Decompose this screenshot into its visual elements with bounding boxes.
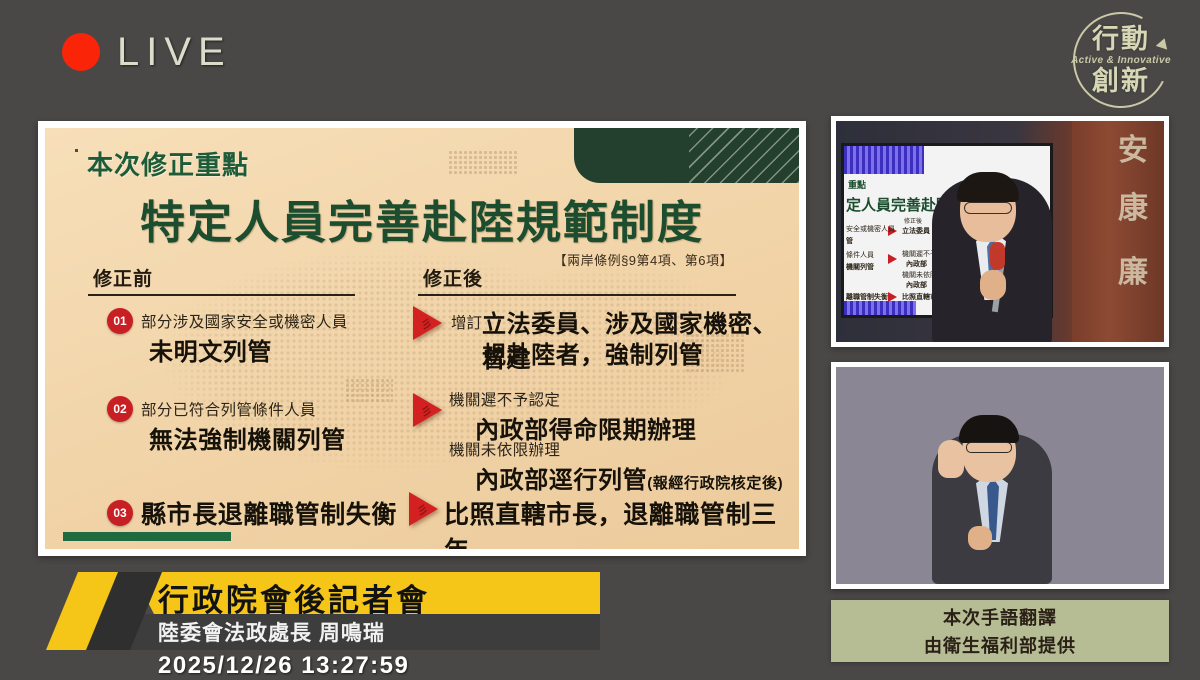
row1-before-big: 未明文列管	[149, 332, 272, 367]
slide-citation: 【兩岸條例§9第4項、第6項】	[554, 250, 733, 269]
screen-red-arrow-icon	[888, 254, 897, 264]
screen-row-after-big: 內政部	[906, 280, 927, 290]
screen-row-small: 條件人員	[846, 250, 874, 260]
bullet-tick-icon	[75, 149, 78, 152]
sign-credit-line1: 本次手語翻譯	[943, 604, 1057, 630]
signer-figure	[932, 434, 1052, 584]
screen-col-after: 修正後	[904, 216, 922, 225]
row3-after-big: 比照直轄市長，退離職管制三年	[444, 495, 799, 549]
screen-row-after-big: 內政部	[906, 259, 927, 269]
row1-after-big-line2: 規赴陸者，強制列管	[482, 335, 703, 370]
row-number-badge: 02	[107, 396, 133, 422]
lower-third-banner: 行政院會後記者會 陸委會法政處長 周鳴瑞 2025/12/26 13:27:59	[40, 572, 600, 674]
row1-before-small: 部分涉及國家安全或機密人員	[141, 310, 348, 332]
screen-row-big: 機關列管	[846, 262, 874, 272]
wall-glyph: 安	[1118, 125, 1148, 169]
microphone-icon	[990, 242, 1005, 270]
slide-heading: 本次修正重點	[75, 145, 249, 182]
live-indicator-dot	[62, 33, 100, 71]
row2-after-big-2-text: 內政部逕行列管	[475, 467, 647, 494]
row2-before-small: 部分已符合列管條件人員	[141, 398, 316, 420]
dot-texture-decoration	[448, 150, 518, 174]
wall-glyph: 廉	[1118, 247, 1148, 291]
signer-lower-hand	[968, 526, 992, 550]
dot-texture-decoration	[345, 378, 393, 404]
live-badge: LIVE	[62, 32, 232, 72]
brand-logo-line2: 創新	[1060, 68, 1182, 95]
lower-third-timestamp: 2025/12/26 13:27:59	[158, 652, 409, 680]
slide-canvas: 本次修正重點 特定人員完善赴陸規範制度 【兩岸條例§9第4項、第6項】 修正前 …	[45, 128, 799, 549]
column-header-after: 修正後	[423, 264, 483, 291]
row1-after-tag: 增訂	[451, 311, 482, 333]
diagonal-stripes-decoration	[689, 128, 799, 183]
slide-title: 特定人員完善赴陸規範制度	[45, 186, 799, 251]
sign-language-video-panel	[831, 362, 1169, 589]
column-rule-before	[88, 294, 355, 296]
screen-pattern-decoration	[844, 146, 924, 174]
row2-after-big-2-suffix: (報經行政院核定後)	[647, 475, 783, 492]
row3-before-big: 縣市長退離職管制失衡	[141, 495, 397, 531]
slide-heading-text: 本次修正重點	[87, 145, 249, 182]
sign-credit-line2: 由衛生福利部提供	[924, 632, 1076, 658]
lower-third-title: 行政院會後記者會	[158, 575, 430, 620]
signer-hair	[959, 415, 1019, 443]
screen-row-big: 管	[846, 236, 853, 246]
signer-scene	[836, 367, 1164, 584]
brand-logo: 行動 Active & Innovative 創新	[1060, 8, 1182, 112]
presentation-slide: 本次修正重點 特定人員完善赴陸規範制度 【兩岸條例§9第4項、第6項】 修正前 …	[38, 121, 806, 556]
screen-heading-text: 重點	[848, 178, 866, 191]
column-header-before: 修正前	[93, 264, 153, 291]
live-label: LIVE	[117, 32, 232, 72]
sign-language-credit-box: 本次手語翻譯 由衛生福利部提供	[831, 600, 1169, 662]
row2-after-small-2: 機關未依限辦理	[449, 438, 560, 460]
speaker-video-panel: 安 康 廉 重點 定人員完善赴陸規範制 修正後 安全或機密人員 管 立法委員 條…	[831, 116, 1169, 347]
speaker-hand	[980, 270, 1006, 300]
screen-row-small: 安全或機密人員	[846, 224, 895, 234]
row-number-badge: 01	[107, 308, 133, 334]
signer-raised-hand	[938, 440, 964, 478]
column-rule-after	[418, 294, 736, 296]
brand-logo-line1: 行動	[1060, 26, 1182, 53]
glasses-icon	[964, 202, 1012, 214]
row2-after-small-1: 機關遲不予認定	[449, 388, 560, 410]
row2-after-big-2: 內政部逕行列管(報經行政院核定後)	[475, 460, 783, 495]
speaker-figure	[932, 178, 1052, 342]
screen-row-after-big: 立法委員	[902, 226, 930, 236]
slide-bottom-accent-bar	[63, 532, 231, 541]
lower-third-subtitle: 陸委會法政處長 周鳴瑞	[158, 617, 385, 647]
wall-glyph: 康	[1118, 183, 1148, 227]
screen-pattern-decoration	[844, 301, 916, 315]
row-number-badge: 03	[107, 500, 133, 526]
row2-before-big: 無法強制機關列管	[149, 420, 346, 455]
slide-corner-decoration	[574, 128, 799, 183]
speaker-scene: 安 康 廉 重點 定人員完善赴陸規範制 修正後 安全或機密人員 管 立法委員 條…	[836, 121, 1164, 342]
glasses-icon	[966, 442, 1012, 453]
brand-logo-english: Active & Innovative	[1060, 55, 1182, 66]
